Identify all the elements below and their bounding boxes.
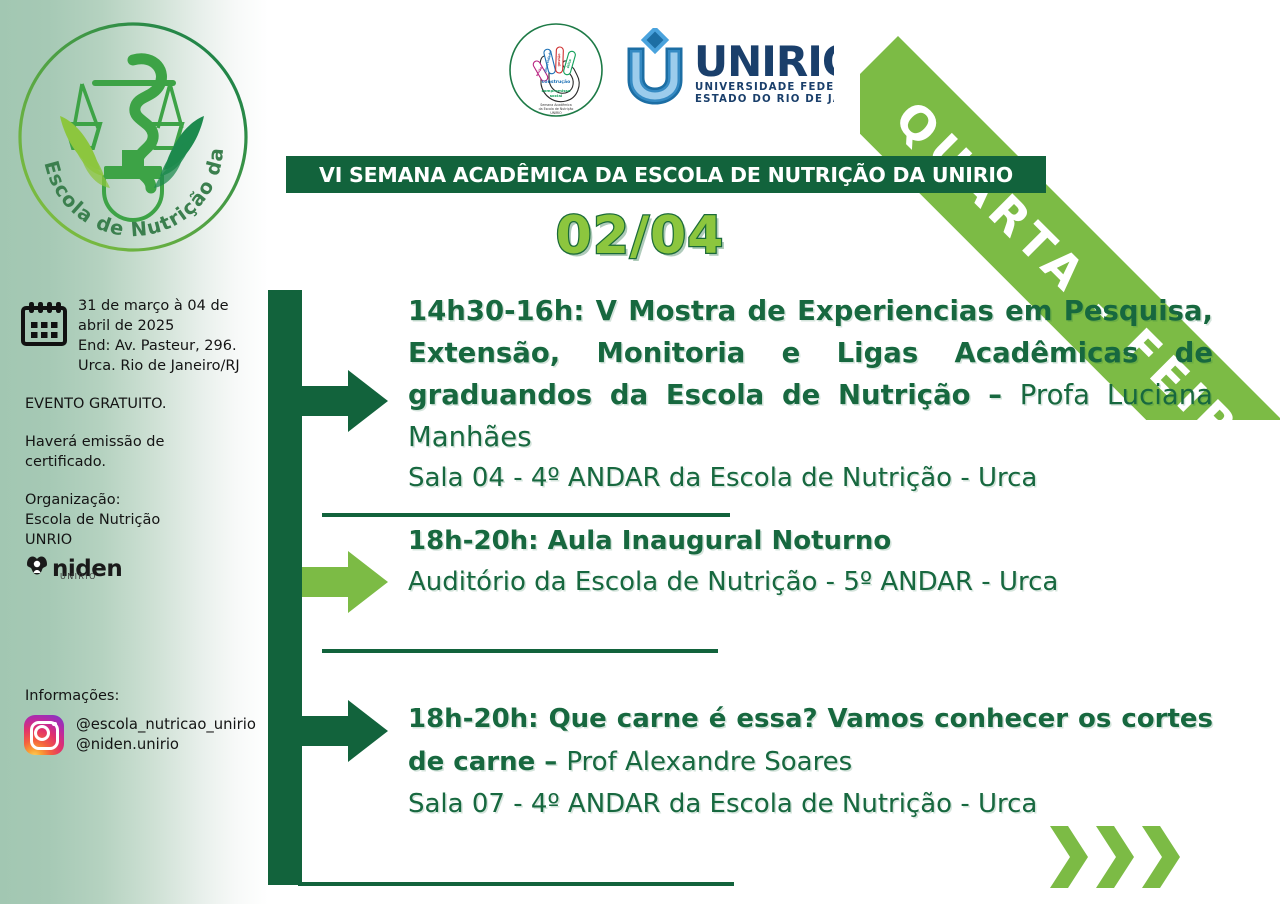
event-item-1: 14h30-16h: V Mostra de Experiencias em P… (408, 290, 1213, 499)
certificate-line: certificado. (25, 452, 240, 472)
event-address-line: End: Av. Pasteur, 296. (78, 336, 240, 356)
semana-caption: UNIRIO (550, 111, 562, 115)
event-location-1: Sala 04 - 4º ANDAR da Escola de Nutrição… (408, 458, 1213, 499)
event-title-2: 18h-20h: Aula Inaugural Noturno (408, 520, 1213, 562)
niden-sublabel: UNIRIO (60, 572, 97, 581)
event-title-1: 14h30-16h: V Mostra de Experiencias em P… (408, 290, 1213, 458)
poster-date: 02/04 (0, 206, 1280, 266)
timeline-separator (298, 882, 734, 886)
event-title-text: 18h-20h: Aula Inaugural Noturno (408, 526, 891, 556)
event-dates-text: 31 de março à 04 de abril de 2025 End: A… (78, 296, 240, 376)
unirio-logo: UNIRIO UNIVERSIDADE FEDERAL DO ESTADO DO… (622, 28, 834, 108)
free-event-note: EVENTO GRATUITO. (25, 394, 240, 414)
decorative-chevrons (1046, 826, 1182, 888)
event-dates-block: 31 de março à 04 de abril de 2025 End: A… (20, 296, 260, 376)
instagram-handles: @escola_nutricao_unirio @niden.unirio (76, 715, 256, 755)
semana-academica-logo: união diversidade gestão ética construçã… (508, 22, 604, 118)
unirio-wordmark: UNIRIO (694, 37, 834, 86)
calendar-icon (20, 300, 68, 352)
event-item-3: 18h-20h: Que carne é essa? Vamos conhece… (408, 698, 1213, 825)
organization-note: Organização: Escola de Nutrição UNRIO (25, 490, 240, 550)
unirio-subtitle: UNIVERSIDADE FEDERAL DO (695, 82, 834, 93)
semana-palm-label: construção (542, 79, 571, 85)
arrow-right-icon-event-3 (302, 700, 388, 762)
event-dates-line: 31 de março à 04 de (78, 296, 240, 316)
arrow-right-icon-event-1 (302, 370, 388, 432)
instagram-contact-row[interactable]: @escola_nutricao_unirio @niden.unirio (24, 715, 256, 755)
timeline-separator (322, 513, 730, 517)
organization-line: Escola de Nutrição (25, 510, 240, 530)
unirio-subtitle: ESTADO DO RIO DE JANEIRO (695, 94, 834, 105)
event-dates-line: abril de 2025 (78, 316, 240, 336)
chevron-right-icon (1138, 826, 1182, 888)
event-location-2: Auditório da Escola de Nutrição - 5º AND… (408, 562, 1213, 603)
chevron-right-icon (1092, 826, 1136, 888)
semana-base-label: social (550, 93, 563, 98)
event-poster: Escola de Nutrição da Unirio 31 de março… (0, 0, 1280, 904)
arrow-right-icon-event-2 (302, 551, 388, 613)
poster-title: VI SEMANA ACADÊMICA DA ESCOLA DE NUTRIÇÃ… (319, 163, 1013, 187)
instagram-handle[interactable]: @niden.unirio (76, 735, 256, 755)
event-address-line: Urca. Rio de Janeiro/RJ (78, 356, 240, 376)
certificate-note: Haverá emissão de certificado. (25, 432, 240, 472)
organization-line: Organização: (25, 490, 240, 510)
niden-mark-icon (24, 553, 50, 581)
instagram-icon[interactable] (24, 715, 64, 755)
event-title-3: 18h-20h: Que carne é essa? Vamos conhece… (408, 698, 1213, 784)
event-speaker: Prof Alexandre Soares (566, 747, 852, 777)
chevron-right-icon (1046, 826, 1090, 888)
event-location-3: Sala 07 - 4º ANDAR da Escola de Nutrição… (408, 784, 1213, 825)
info-label: Informações: (25, 686, 240, 706)
event-item-2: 18h-20h: Aula Inaugural Noturno Auditóri… (408, 520, 1213, 603)
instagram-handle[interactable]: @escola_nutricao_unirio (76, 715, 256, 735)
poster-title-bar: VI SEMANA ACADÊMICA DA ESCOLA DE NUTRIÇÃ… (286, 156, 1046, 193)
semana-finger-label: gestão (557, 53, 561, 67)
organization-line: UNRIO (25, 530, 240, 550)
certificate-line: Haverá emissão de (25, 432, 240, 452)
timeline-separator (322, 649, 718, 653)
timeline-vertical-bar (268, 290, 302, 885)
